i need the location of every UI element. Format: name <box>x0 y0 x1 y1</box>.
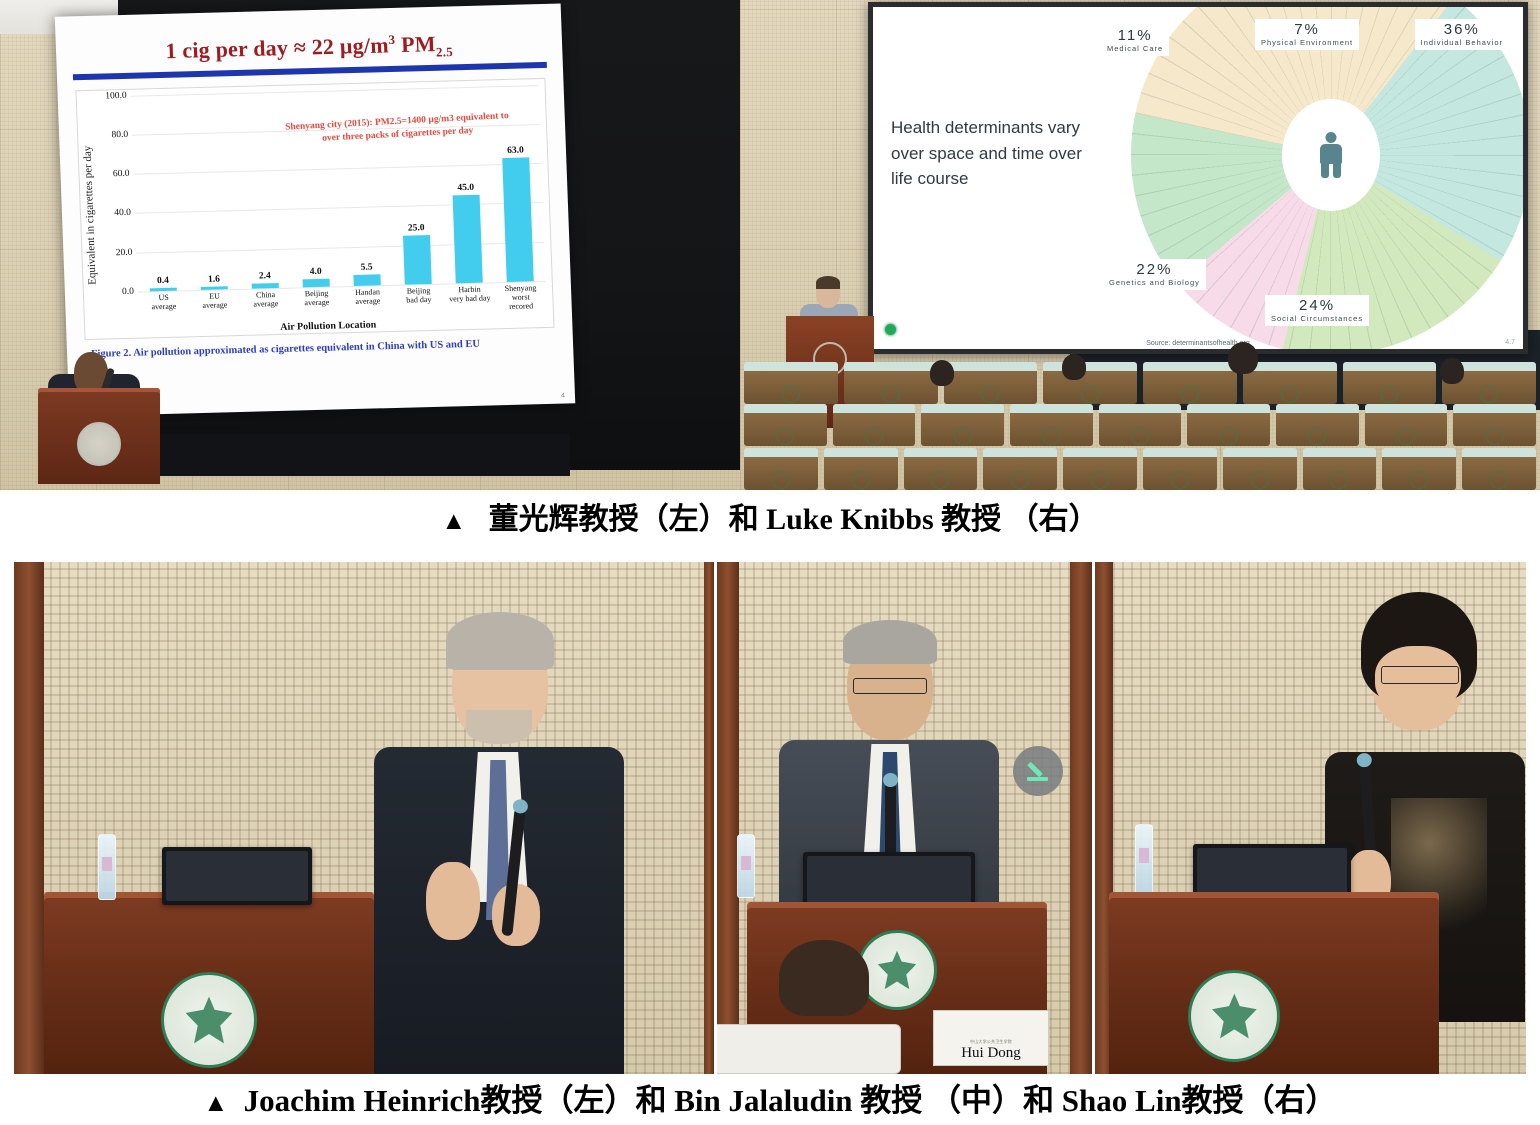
sun-yat-sen-university-emblem-icon <box>1188 970 1280 1062</box>
seat <box>744 448 818 490</box>
chart-bar-value-label: 25.0 <box>408 223 425 233</box>
wheel-segment-medical-care: 11% Medical Care <box>1101 25 1169 56</box>
seat <box>904 448 978 490</box>
seat-row <box>740 448 1540 490</box>
lectern <box>44 892 374 1074</box>
chart-bar <box>453 194 483 283</box>
seat <box>744 404 827 446</box>
top-right-photo: Health determinants vary over space and … <box>740 0 1540 490</box>
person-icon <box>1318 132 1344 178</box>
chart-x-tick-label: Chinaaverage <box>244 289 288 318</box>
wheel-segment-social-circumstances: 24% Social Circumstances <box>1265 295 1369 326</box>
chart-y-tick: 40.0 <box>114 208 131 218</box>
seat <box>744 362 838 404</box>
seat-row <box>740 404 1540 446</box>
chart-y-tick: 0.0 <box>122 286 134 296</box>
chart-bar <box>403 235 431 285</box>
figure-caption: Figure 2. Air pollution approximated as … <box>79 336 561 360</box>
chart-bar-value-label: 5.5 <box>361 262 373 272</box>
speaker-hair <box>816 276 840 289</box>
front-row-audience-head <box>779 940 869 1016</box>
caption-text: 董光辉教授（左）和 Luke Knibbs 教授 （右） <box>489 503 1099 536</box>
chart-bar <box>502 158 533 282</box>
caption-bottom-row: ▲ Joachim Heinrich教授（左）和 Bin Jalaludin 教… <box>0 1078 1540 1124</box>
seat <box>1365 404 1448 446</box>
slide-number: 4.7 <box>1505 339 1515 346</box>
speaker-beard <box>466 710 532 744</box>
caption-top-row: ▲ 董光辉教授（左）和 Luke Knibbs 教授 （右） <box>0 494 1540 546</box>
bottom-left-photo <box>14 562 714 1074</box>
audience-seating <box>740 360 1540 490</box>
edit-pencil-button[interactable] <box>1013 746 1063 796</box>
chart-y-tick: 20.0 <box>116 247 133 257</box>
stage-table <box>150 434 570 476</box>
chart-x-tick-label: Beijingbad day <box>397 285 441 314</box>
lectern <box>1109 892 1439 1074</box>
seat-row <box>740 362 1540 404</box>
bar-chart: Equivalent in cigarettes per day 0.020.0… <box>75 78 554 340</box>
seat <box>1243 362 1337 404</box>
chart-bar <box>354 274 381 285</box>
chart-bar <box>252 283 279 288</box>
name-card-name: Hui Dong <box>961 1045 1021 1062</box>
water-bottle <box>98 834 116 900</box>
chart-bar-group: 0.4 <box>135 94 185 291</box>
speaker-hand-left <box>426 862 480 940</box>
name-card: 中山大学公共卫生学院 Hui Dong <box>933 1010 1049 1066</box>
slide-page-number: 4 <box>561 393 565 400</box>
segment-percent: 22% <box>1109 261 1200 278</box>
segment-label: Medical Care <box>1107 44 1163 53</box>
chart-y-axis-ticks: 0.020.040.060.080.0100.0 <box>95 96 136 293</box>
chart-x-tick-label: USaverage <box>142 292 186 321</box>
segment-label: Genetics and Biology <box>1109 278 1200 287</box>
bottom-middle-photo: 中山大学公共卫生学院 Hui Dong <box>717 562 1092 1074</box>
seat <box>1143 448 1217 490</box>
seat <box>1010 404 1093 446</box>
wood-panel <box>14 562 44 1074</box>
wheel-segment-genetics-biology: 22% Genetics and Biology <box>1103 259 1206 290</box>
top-left-photo: 1 cig per day ≈ 22 µg/m3 PM2.5 Equivalen… <box>0 0 740 490</box>
slide-title-main: 1 cig per day ≈ 22 µg/m <box>165 32 389 63</box>
seat <box>1143 362 1237 404</box>
seat <box>944 362 1038 404</box>
audience-member <box>1440 358 1464 384</box>
seat <box>1063 448 1137 490</box>
front-row-chair <box>717 1024 901 1074</box>
wheel-center <box>1282 99 1380 211</box>
sun-yat-sen-university-emblem-icon <box>857 930 937 1010</box>
eyeglasses-icon <box>1381 666 1459 684</box>
article-photo-figure-page: 1 cig per day ≈ 22 µg/m3 PM2.5 Equivalen… <box>0 0 1540 1125</box>
caption-text: Joachim Heinrich教授（左）和 Bin Jalaludin 教授 … <box>244 1083 1337 1118</box>
seat <box>1303 448 1377 490</box>
seat <box>1462 448 1536 490</box>
chart-bar-value-label: 63.0 <box>507 146 524 156</box>
speaker-hair <box>446 612 554 670</box>
seat <box>983 448 1057 490</box>
chart-y-tick: 80.0 <box>111 130 128 140</box>
chart-bar-value-label: 4.0 <box>310 267 322 277</box>
bottom-right-photo <box>1095 562 1526 1074</box>
slide-title-subscript: 2.5 <box>436 44 453 59</box>
bottom-photo-row: 中山大学公共卫生学院 Hui Dong <box>14 562 1526 1074</box>
segment-percent: 36% <box>1421 21 1503 38</box>
seat <box>824 448 898 490</box>
seat <box>833 404 916 446</box>
chart-bar-group: 1.6 <box>186 93 236 290</box>
segment-percent: 11% <box>1107 27 1163 44</box>
water-bottle <box>1135 824 1153 894</box>
seat <box>1382 448 1456 490</box>
wheel-segment-individual-behavior: 36% Individual Behavior <box>1415 19 1509 50</box>
chart-x-tick-label: Handanaverage <box>346 287 390 316</box>
slide-heading: Health determinants vary over space and … <box>891 115 1101 192</box>
wood-panel <box>704 562 714 1074</box>
seat <box>1043 362 1137 404</box>
segment-percent: 7% <box>1261 21 1353 38</box>
seat <box>1453 404 1536 446</box>
seat <box>844 362 938 404</box>
segment-label: Physical Environment <box>1261 38 1353 47</box>
chart-x-tick-label: Beijingaverage <box>295 288 339 317</box>
seat <box>1099 404 1182 446</box>
segment-label: Individual Behavior <box>1421 38 1503 47</box>
wood-panel <box>1070 562 1092 1074</box>
chart-bar-value-label: 2.4 <box>259 271 271 281</box>
seat <box>1343 362 1437 404</box>
segment-label: Social Circumstances <box>1271 314 1363 323</box>
seat <box>1276 404 1359 446</box>
green-status-light-icon <box>885 324 896 335</box>
top-photo-row: 1 cig per day ≈ 22 µg/m3 PM2.5 Equivalen… <box>0 0 1540 490</box>
triangle-marker-icon: ▲ <box>203 1090 228 1117</box>
water-bottle <box>737 834 755 898</box>
laptop <box>162 847 312 905</box>
audience-member <box>930 360 954 386</box>
chart-x-tick-label: Shenyangworst recored <box>499 283 543 312</box>
eyeglasses-icon <box>853 678 927 694</box>
chart-y-tick: 60.0 <box>113 169 130 179</box>
audience-member <box>1062 354 1086 380</box>
segment-percent: 24% <box>1271 297 1363 314</box>
audience-member <box>1228 342 1258 374</box>
chart-plot-area: 0.41.62.44.05.525.045.063.0 Shenyang cit… <box>131 85 546 292</box>
chart-x-tick-label: EUaverage <box>193 291 237 320</box>
seat <box>1187 404 1270 446</box>
seat <box>921 404 1004 446</box>
pencil-icon <box>1026 759 1050 783</box>
chart-bar-value-label: 45.0 <box>457 182 474 192</box>
projected-slide-cigarette-equivalent: 1 cig per day ≈ 22 µg/m3 PM2.5 Equivalen… <box>55 4 576 417</box>
speaker-hair <box>843 620 937 664</box>
slide-title-pm: PM <box>395 31 436 57</box>
wheel-segment-physical-environment: 7% Physical Environment <box>1255 19 1359 50</box>
chart-bar-value-label: 0.4 <box>157 276 169 286</box>
chart-x-tick-label: Harbinvery bad day <box>448 284 492 313</box>
triangle-marker-icon: ▲ <box>441 508 466 535</box>
chart-y-tick: 100.0 <box>105 91 127 102</box>
projected-slide-health-determinants: Health determinants vary over space and … <box>873 7 1523 349</box>
seat <box>1223 448 1297 490</box>
wood-panel <box>717 562 739 1074</box>
sun-yat-sen-university-emblem-icon <box>161 972 257 1068</box>
chart-plot-wrapper: 0.020.040.060.080.0100.0 0.41.62.44.05.5… <box>94 79 553 339</box>
chart-bar <box>303 279 330 288</box>
lectern <box>38 388 160 484</box>
chart-bar-value-label: 1.6 <box>208 274 220 284</box>
projection-screen: Health determinants vary over space and … <box>868 2 1528 354</box>
